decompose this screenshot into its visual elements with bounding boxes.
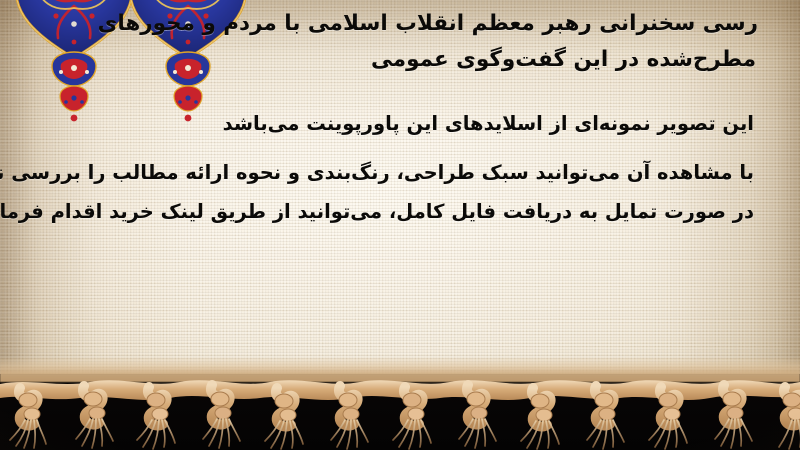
body-line-3: در صورت تمایل به دریافت فایل کامل، می‌تو…	[0, 192, 754, 231]
title-line-1: رسی سخنرانی رهبر معظم انقلاب اسلامی با م…	[16, 6, 758, 42]
carpet-fringe-tassels-icon	[0, 370, 800, 450]
title-line-2: مطرح‌شده در این گفت‌وگوی عمومی	[16, 42, 756, 78]
slide-title: رسی سخنرانی رهبر معظم انقلاب اسلامی با م…	[16, 6, 756, 78]
slide-body: این تصویر نمونه‌ای از اسلایدهای این پاور…	[0, 104, 754, 231]
carpet-fringe-band	[0, 354, 800, 450]
body-line-1: این تصویر نمونه‌ای از اسلایدهای این پاور…	[0, 104, 754, 143]
body-line-2: با مشاهده آن می‌توانید سبک طراحی، رنگ‌بن…	[0, 153, 754, 192]
slide-canvas: رسی سخنرانی رهبر معظم انقلاب اسلامی با م…	[0, 0, 800, 450]
